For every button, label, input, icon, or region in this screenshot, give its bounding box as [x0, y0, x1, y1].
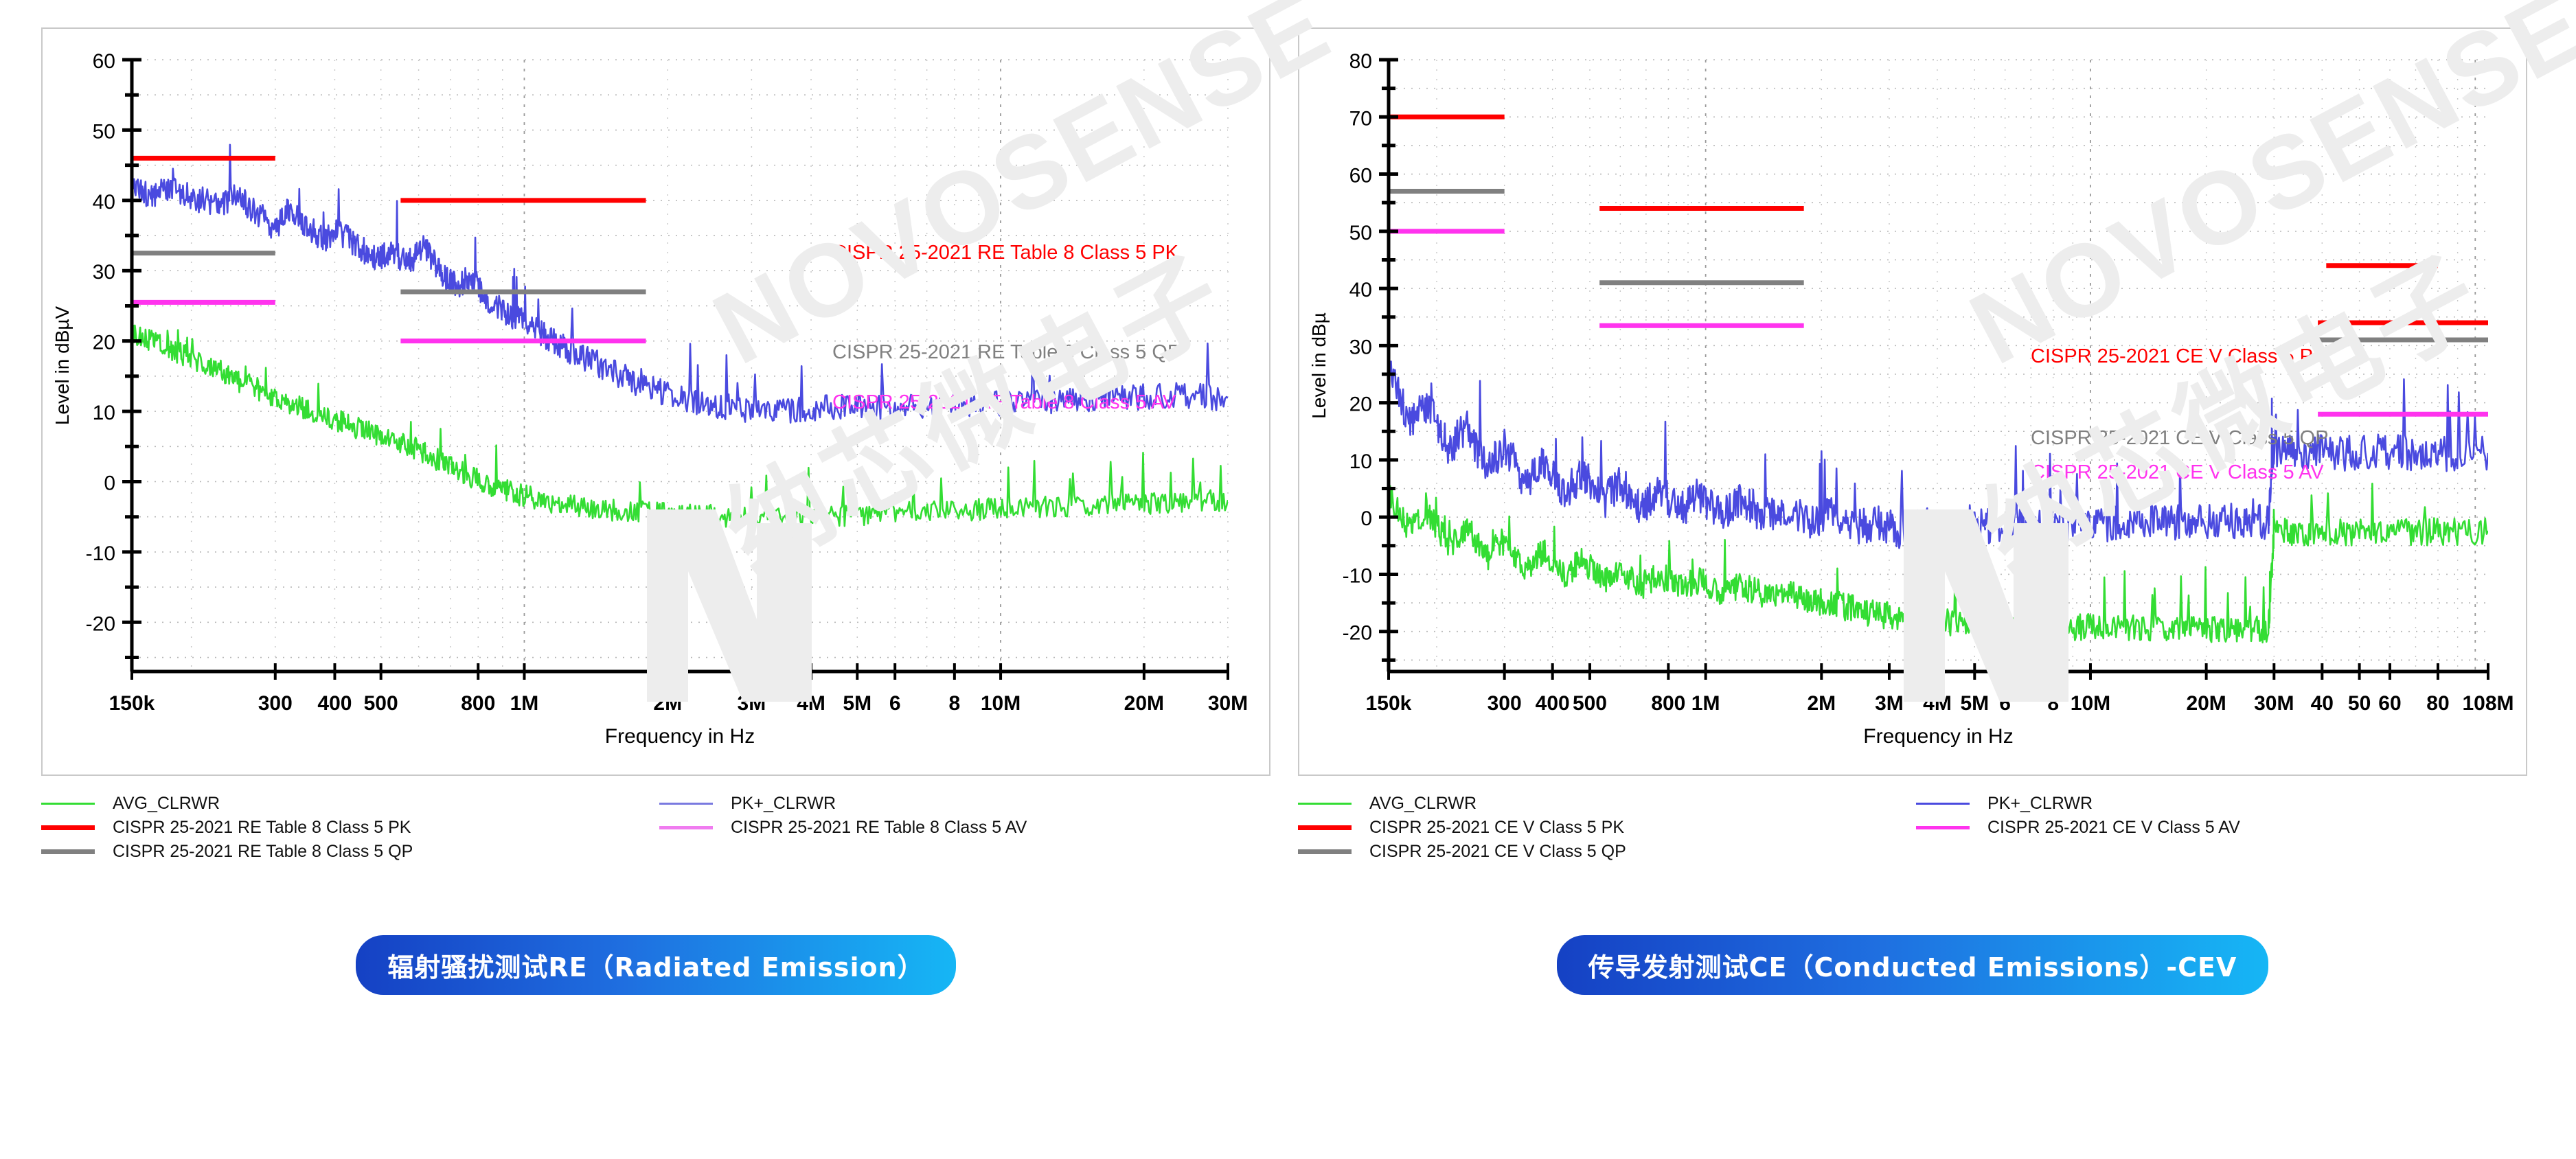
svg-text:150k: 150k: [1366, 692, 1412, 715]
svg-text:3M: 3M: [738, 692, 766, 715]
legend-label: PK+_CLRWR: [731, 794, 836, 814]
svg-text:30: 30: [93, 261, 115, 284]
legend-label: PK+_CLRWR: [1987, 794, 2093, 814]
legend-item: AVG_CLRWR: [41, 794, 220, 814]
svg-text:60: 60: [93, 50, 115, 73]
svg-text:500: 500: [1573, 692, 1607, 715]
svg-text:150k: 150k: [109, 692, 155, 715]
svg-text:80: 80: [1349, 50, 1372, 73]
svg-text:400: 400: [317, 692, 352, 715]
svg-text:50: 50: [1349, 222, 1372, 244]
svg-text:3M: 3M: [1875, 692, 1904, 715]
svg-text:6: 6: [889, 692, 901, 715]
svg-text:4M: 4M: [1923, 692, 1952, 715]
legend-label: CISPR 25-2021 CE V Class 5 AV: [1987, 818, 2240, 838]
svg-text:CISPR 25-2021 CE V Class 5 QP: CISPR 25-2021 CE V Class 5 QP: [2031, 427, 2329, 449]
svg-text:300: 300: [258, 692, 293, 715]
svg-text:1M: 1M: [1691, 692, 1720, 715]
svg-text:400: 400: [1536, 692, 1570, 715]
plot-area-re: 6050403020100-10-20150k3004005008001M2M3…: [43, 29, 1269, 774]
legend-item: CISPR 25-2021 CE V Class 5 AV: [1916, 818, 2240, 838]
chart-card-re: NOVOSENSE 纳芯微电子 6050403020100-10-20150k3…: [41, 27, 1270, 776]
legend-swatch-icon: [1298, 849, 1352, 854]
svg-text:-10: -10: [86, 542, 115, 565]
legend-item: AVG_CLRWR: [1298, 794, 1477, 814]
svg-text:2M: 2M: [653, 692, 682, 715]
svg-text:10M: 10M: [2071, 692, 2110, 715]
svg-text:5M: 5M: [843, 692, 871, 715]
svg-text:20: 20: [1349, 393, 1372, 416]
svg-text:80: 80: [2426, 692, 2449, 715]
svg-text:108M: 108M: [2462, 692, 2514, 715]
svg-text:40: 40: [2311, 692, 2334, 715]
legend-label: CISPR 25-2021 CE V Class 5 PK: [1369, 818, 1624, 838]
legend-label: AVG_CLRWR: [113, 794, 220, 814]
svg-text:40: 40: [93, 191, 115, 214]
svg-text:-20: -20: [86, 612, 115, 635]
svg-text:6: 6: [1999, 692, 2011, 715]
svg-text:50: 50: [2348, 692, 2371, 715]
caption-pill-ce[interactable]: 传导发射测试CE（Conducted Emissions）-CEV: [1557, 935, 2269, 995]
svg-text:30: 30: [1349, 336, 1372, 358]
svg-text:-20: -20: [1343, 622, 1372, 645]
svg-text:20M: 20M: [1124, 692, 1164, 715]
svg-text:500: 500: [364, 692, 398, 715]
legend-label: CISPR 25-2021 CE V Class 5 QP: [1369, 842, 1626, 862]
legend-swatch-icon: [41, 825, 95, 830]
svg-text:10: 10: [93, 402, 115, 424]
svg-text:70: 70: [1349, 107, 1372, 130]
legend-item: PK+_CLRWR: [659, 794, 836, 814]
svg-text:2M: 2M: [1807, 692, 1836, 715]
svg-text:CISPR 25-2021 RE Table 8 Class: CISPR 25-2021 RE Table 8 Class 5 QP: [832, 341, 1181, 363]
svg-text:30M: 30M: [1208, 692, 1248, 715]
legend-swatch-icon: [1298, 803, 1352, 805]
svg-text:CISPR 25-2021 CE V Class 5 AV: CISPR 25-2021 CE V Class 5 AV: [2031, 461, 2324, 483]
svg-text:8: 8: [949, 692, 961, 715]
legend-label: AVG_CLRWR: [1369, 794, 1477, 814]
svg-text:40: 40: [1349, 279, 1372, 301]
legend-item: CISPR 25-2021 RE Table 8 Class 5 AV: [659, 818, 1027, 838]
svg-text:Frequency in Hz: Frequency in Hz: [1863, 725, 2013, 748]
legend-swatch-icon: [1298, 825, 1352, 830]
legend-label: CISPR 25-2021 RE Table 8 Class 5 AV: [731, 818, 1027, 838]
plot-svg-re: 6050403020100-10-20150k3004005008001M2M3…: [43, 29, 1269, 774]
svg-text:20: 20: [93, 332, 115, 354]
panel-re: NOVOSENSE 纳芯微电子 6050403020100-10-20150k3…: [41, 27, 1270, 897]
legend-item: PK+_CLRWR: [1916, 794, 2093, 814]
legend-item: CISPR 25-2021 RE Table 8 Class 5 PK: [41, 818, 411, 838]
svg-text:60: 60: [2378, 692, 2401, 715]
legend-swatch-icon: [41, 803, 95, 805]
svg-text:8: 8: [2047, 692, 2059, 715]
svg-text:Level in dBµ: Level in dBµ: [1308, 312, 1330, 419]
svg-text:Level in dBµV: Level in dBµV: [52, 306, 73, 426]
legend-swatch-icon: [1916, 803, 1970, 805]
svg-text:50: 50: [93, 120, 115, 143]
svg-text:800: 800: [461, 692, 495, 715]
svg-text:0: 0: [1360, 507, 1372, 530]
svg-text:CISPR 25-2021 RE Table 8 Class: CISPR 25-2021 RE Table 8 Class 5 AV: [832, 391, 1176, 413]
chart-card-ce: NOVOSENSE 纳芯微电子 80706050403020100-10-201…: [1298, 27, 2527, 776]
legend-ce: AVG_CLRWRCISPR 25-2021 CE V Class 5 PKCI…: [1298, 794, 2527, 897]
legend-swatch-icon: [41, 849, 95, 854]
svg-text:0: 0: [104, 472, 115, 494]
legend-item: CISPR 25-2021 CE V Class 5 QP: [1298, 842, 1626, 862]
svg-text:5M: 5M: [1960, 692, 1989, 715]
svg-text:4M: 4M: [797, 692, 825, 715]
svg-text:30M: 30M: [2254, 692, 2294, 715]
svg-text:1M: 1M: [510, 692, 539, 715]
svg-text:10M: 10M: [981, 692, 1021, 715]
svg-text:60: 60: [1349, 165, 1372, 187]
caption-pill-re[interactable]: 辐射骚扰测试RE（Radiated Emission）: [356, 935, 955, 995]
panel-ce: NOVOSENSE 纳芯微电子 80706050403020100-10-201…: [1298, 27, 2527, 897]
legend-swatch-icon: [659, 826, 713, 829]
plot-area-ce: 80706050403020100-10-20150k3004005008001…: [1299, 29, 2526, 774]
svg-text:Frequency in Hz: Frequency in Hz: [605, 725, 755, 748]
charts-row: NOVOSENSE 纳芯微电子 6050403020100-10-20150k3…: [0, 0, 2576, 897]
legend-item: CISPR 25-2021 RE Table 8 Class 5 QP: [41, 842, 413, 862]
plot-svg-ce: 80706050403020100-10-20150k3004005008001…: [1299, 29, 2526, 774]
svg-text:CISPR 25-2021 RE Table 8 Class: CISPR 25-2021 RE Table 8 Class 5 PK: [832, 242, 1179, 264]
captions-row: 辐射骚扰测试RE（Radiated Emission） 传导发射测试CE（Con…: [0, 935, 2576, 995]
svg-text:20M: 20M: [2186, 692, 2226, 715]
legend-swatch-icon: [659, 803, 713, 805]
legend-re: AVG_CLRWRCISPR 25-2021 RE Table 8 Class …: [41, 794, 1270, 897]
svg-text:300: 300: [1488, 692, 1522, 715]
svg-text:10: 10: [1349, 450, 1372, 473]
legend-label: CISPR 25-2021 RE Table 8 Class 5 PK: [113, 818, 411, 838]
legend-item: CISPR 25-2021 CE V Class 5 PK: [1298, 818, 1624, 838]
legend-swatch-icon: [1916, 826, 1970, 829]
svg-text:800: 800: [1651, 692, 1685, 715]
caption-cell-ce: 传导发射测试CE（Conducted Emissions）-CEV: [1298, 935, 2527, 995]
svg-text:CISPR 25-2021 CE V Class 5 PK: CISPR 25-2021 CE V Class 5 PK: [2031, 345, 2327, 367]
svg-text:-10: -10: [1343, 564, 1372, 587]
legend-label: CISPR 25-2021 RE Table 8 Class 5 QP: [113, 842, 413, 862]
caption-cell-re: 辐射骚扰测试RE（Radiated Emission）: [41, 935, 1270, 995]
